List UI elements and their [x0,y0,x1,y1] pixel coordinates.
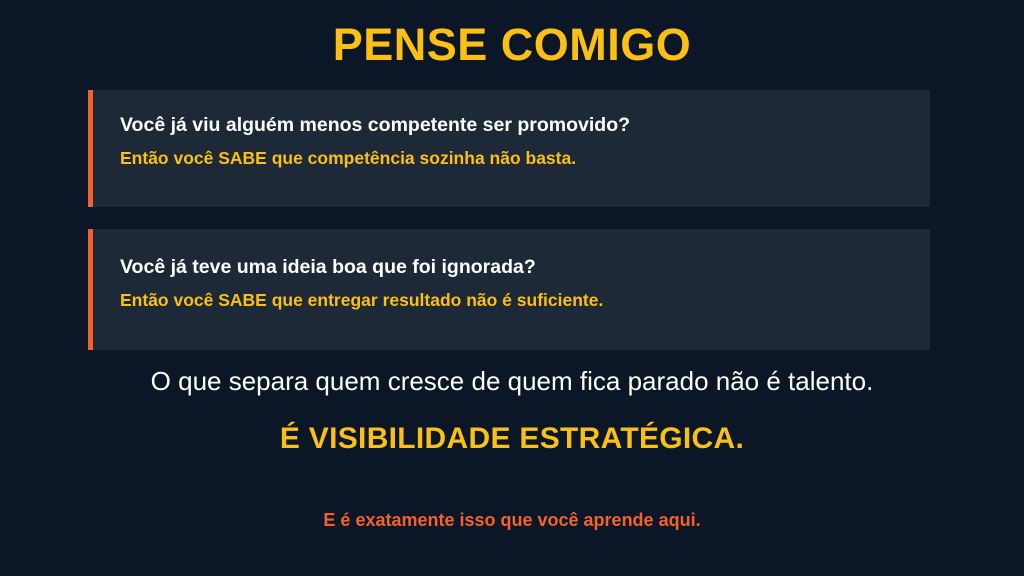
conclusion-lead-text: O que separa quem cresce de quem fica pa… [0,366,1024,397]
page-title: PENSE COMIGO [0,20,1024,70]
conclusion-punch-text: É VISIBILIDADE ESTRATÉGICA. [0,421,1024,457]
card-answer: Então você SABE que competência sozinha … [120,148,910,170]
slide-root: PENSE COMIGO Você já viu alguém menos co… [0,0,1024,576]
card-question: Você já teve uma ideia boa que foi ignor… [120,255,910,279]
closing-callout-text: E é exatamente isso que você aprende aqu… [0,510,1024,532]
card-question: Você já viu alguém menos competente ser … [120,113,910,137]
insight-card-1: Você já viu alguém menos competente ser … [88,90,930,207]
card-body: Você já teve uma ideia boa que foi ignor… [93,229,930,350]
card-body: Você já viu alguém menos competente ser … [93,90,930,207]
insight-card-2: Você já teve uma ideia boa que foi ignor… [88,229,930,350]
card-answer: Então você SABE que entregar resultado n… [120,290,910,312]
